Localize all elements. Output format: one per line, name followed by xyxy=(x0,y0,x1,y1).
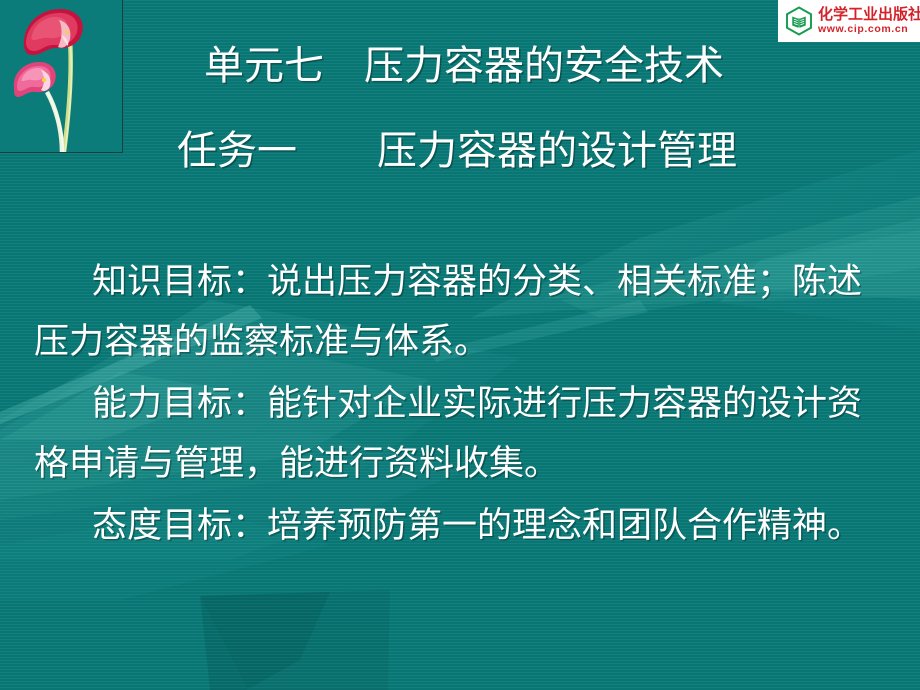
logo-text-block: 化学工业出版社 www.cip.com.cn xyxy=(818,7,920,35)
title-block: 单元七 压力容器的安全技术 任务一 压力容器的设计管理 xyxy=(0,46,920,171)
publisher-url: www.cip.com.cn xyxy=(818,24,920,35)
presentation-slide: 化学工业出版社 www.cip.com.cn 单元七 压力容器的安全技术 任务一… xyxy=(0,0,920,690)
slide-title-line-1: 单元七 压力容器的安全技术 xyxy=(8,46,920,86)
objective-knowledge: 知识目标：说出压力容器的分类、相关标准；陈述压力容器的监察标准与体系。 xyxy=(34,252,892,372)
slide-title-line-2: 任务一 压力容器的设计管理 xyxy=(0,131,920,171)
hexagon-book-icon xyxy=(784,6,814,36)
publisher-logo: 化学工业出版社 www.cip.com.cn xyxy=(778,0,920,42)
objective-attitude: 态度目标：培养预防第一的理念和团队合作精神。 xyxy=(34,496,892,556)
body-text-block: 知识目标：说出压力容器的分类、相关标准；陈述压力容器的监察标准与体系。 能力目标… xyxy=(34,252,892,558)
publisher-name: 化学工业出版社 xyxy=(818,7,920,22)
objective-ability: 能力目标：能针对企业实际进行压力容器的设计资格申请与管理，能进行资料收集。 xyxy=(34,374,892,494)
